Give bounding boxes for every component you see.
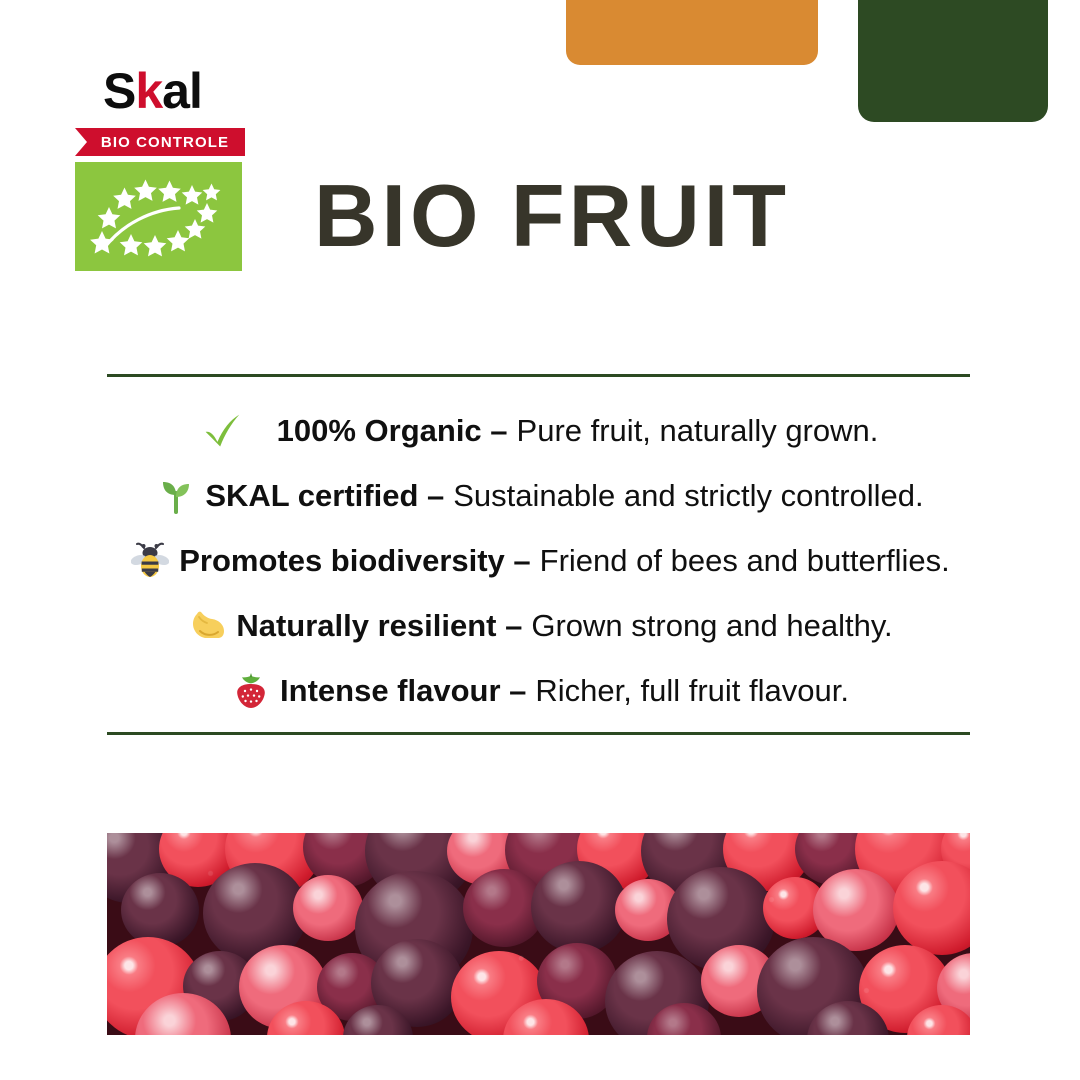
flexed-biceps-icon bbox=[187, 606, 227, 646]
divider-top bbox=[107, 374, 970, 377]
list-item: 100% Organic – Pure fruit, naturally gro… bbox=[202, 398, 879, 463]
skal-wordmark-suffix: al bbox=[162, 63, 202, 119]
berry-photo-content bbox=[107, 833, 970, 1035]
frozen-mixed-berries-photo bbox=[107, 833, 970, 1035]
bio-controle-label: BIO CONTROLE bbox=[101, 134, 229, 151]
list-item-lead: Promotes biodiversity – bbox=[179, 544, 530, 578]
list-item: SKAL certified – Sustainable and strictl… bbox=[156, 463, 923, 528]
list-item: Promotes biodiversity – Friend of bees a… bbox=[130, 528, 950, 593]
eu-organic-leaf-logo bbox=[75, 162, 242, 271]
list-item-text: Grown strong and healthy. bbox=[531, 609, 892, 643]
list-item-lead: SKAL certified – bbox=[205, 479, 444, 513]
skal-wordmark: Skal bbox=[75, 62, 275, 120]
list-item: Intense flavour – Richer, full fruit fla… bbox=[231, 658, 849, 723]
list-item-lead: Intense flavour – bbox=[280, 674, 526, 708]
skal-logo: Skal BIO CONTROLE bbox=[75, 62, 275, 271]
strawberry-icon bbox=[231, 671, 271, 711]
green-accent-block bbox=[858, 0, 1048, 122]
list-item: Naturally resilient – Grown strong and h… bbox=[187, 593, 892, 658]
skal-wordmark-prefix: S bbox=[103, 63, 135, 119]
seedling-icon bbox=[156, 476, 196, 516]
list-item-text: Friend of bees and butterflies. bbox=[540, 544, 950, 578]
check-mark-icon bbox=[202, 411, 242, 451]
divider-bottom bbox=[107, 732, 970, 735]
list-item-text: Richer, full fruit flavour. bbox=[535, 674, 849, 708]
list-item-text: Sustainable and strictly controlled. bbox=[453, 479, 923, 513]
skal-wordmark-accent: k bbox=[135, 63, 162, 119]
benefits-list: 100% Organic – Pure fruit, naturally gro… bbox=[0, 398, 1080, 723]
list-item-lead: Naturally resilient – bbox=[236, 609, 522, 643]
bio-controle-banner: BIO CONTROLE bbox=[75, 128, 245, 156]
page-title: BIO FRUIT bbox=[314, 168, 790, 264]
list-item-text: Pure fruit, naturally grown. bbox=[517, 414, 879, 448]
list-item-lead: 100% Organic – bbox=[277, 414, 508, 448]
orange-accent-block bbox=[566, 0, 818, 65]
bee-icon bbox=[130, 541, 170, 581]
